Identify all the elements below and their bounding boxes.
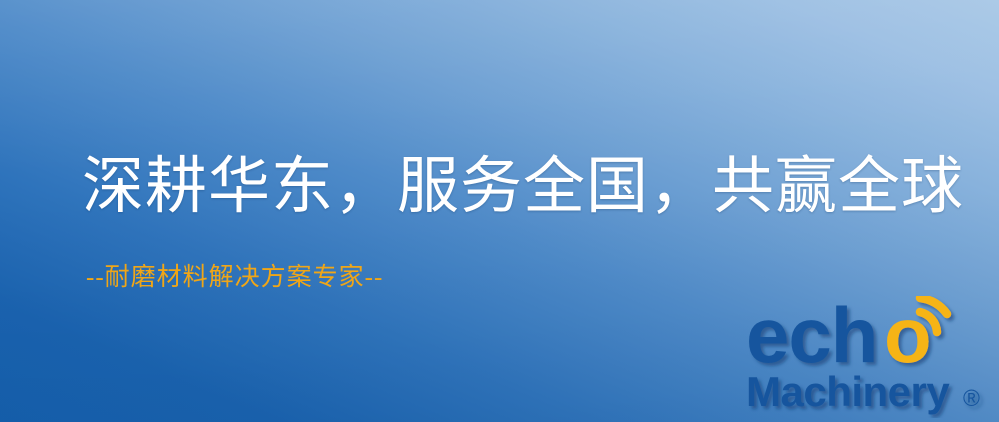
registered-trademark-icon: ® bbox=[963, 385, 980, 411]
company-logo[interactable]: ech o Machinery ® bbox=[744, 296, 996, 418]
page-title: 深耕华东，服务全国，共赢全球 bbox=[82, 152, 964, 222]
logo-wordmark-machinery: Machinery ® bbox=[746, 368, 980, 415]
logo-text-ech: ech bbox=[746, 296, 877, 379]
logo-text-machinery: Machinery bbox=[746, 368, 950, 415]
logo-wordmark-echo: ech bbox=[746, 296, 877, 379]
hero-banner: 深耕华东，服务全国，共赢全球 --耐磨材料解决方案专家-- ech o bbox=[0, 0, 999, 422]
logo-text-o: o bbox=[884, 296, 932, 379]
logo-letter-o: o bbox=[884, 296, 932, 379]
page-subtitle: --耐磨材料解决方案专家-- bbox=[86, 262, 383, 294]
